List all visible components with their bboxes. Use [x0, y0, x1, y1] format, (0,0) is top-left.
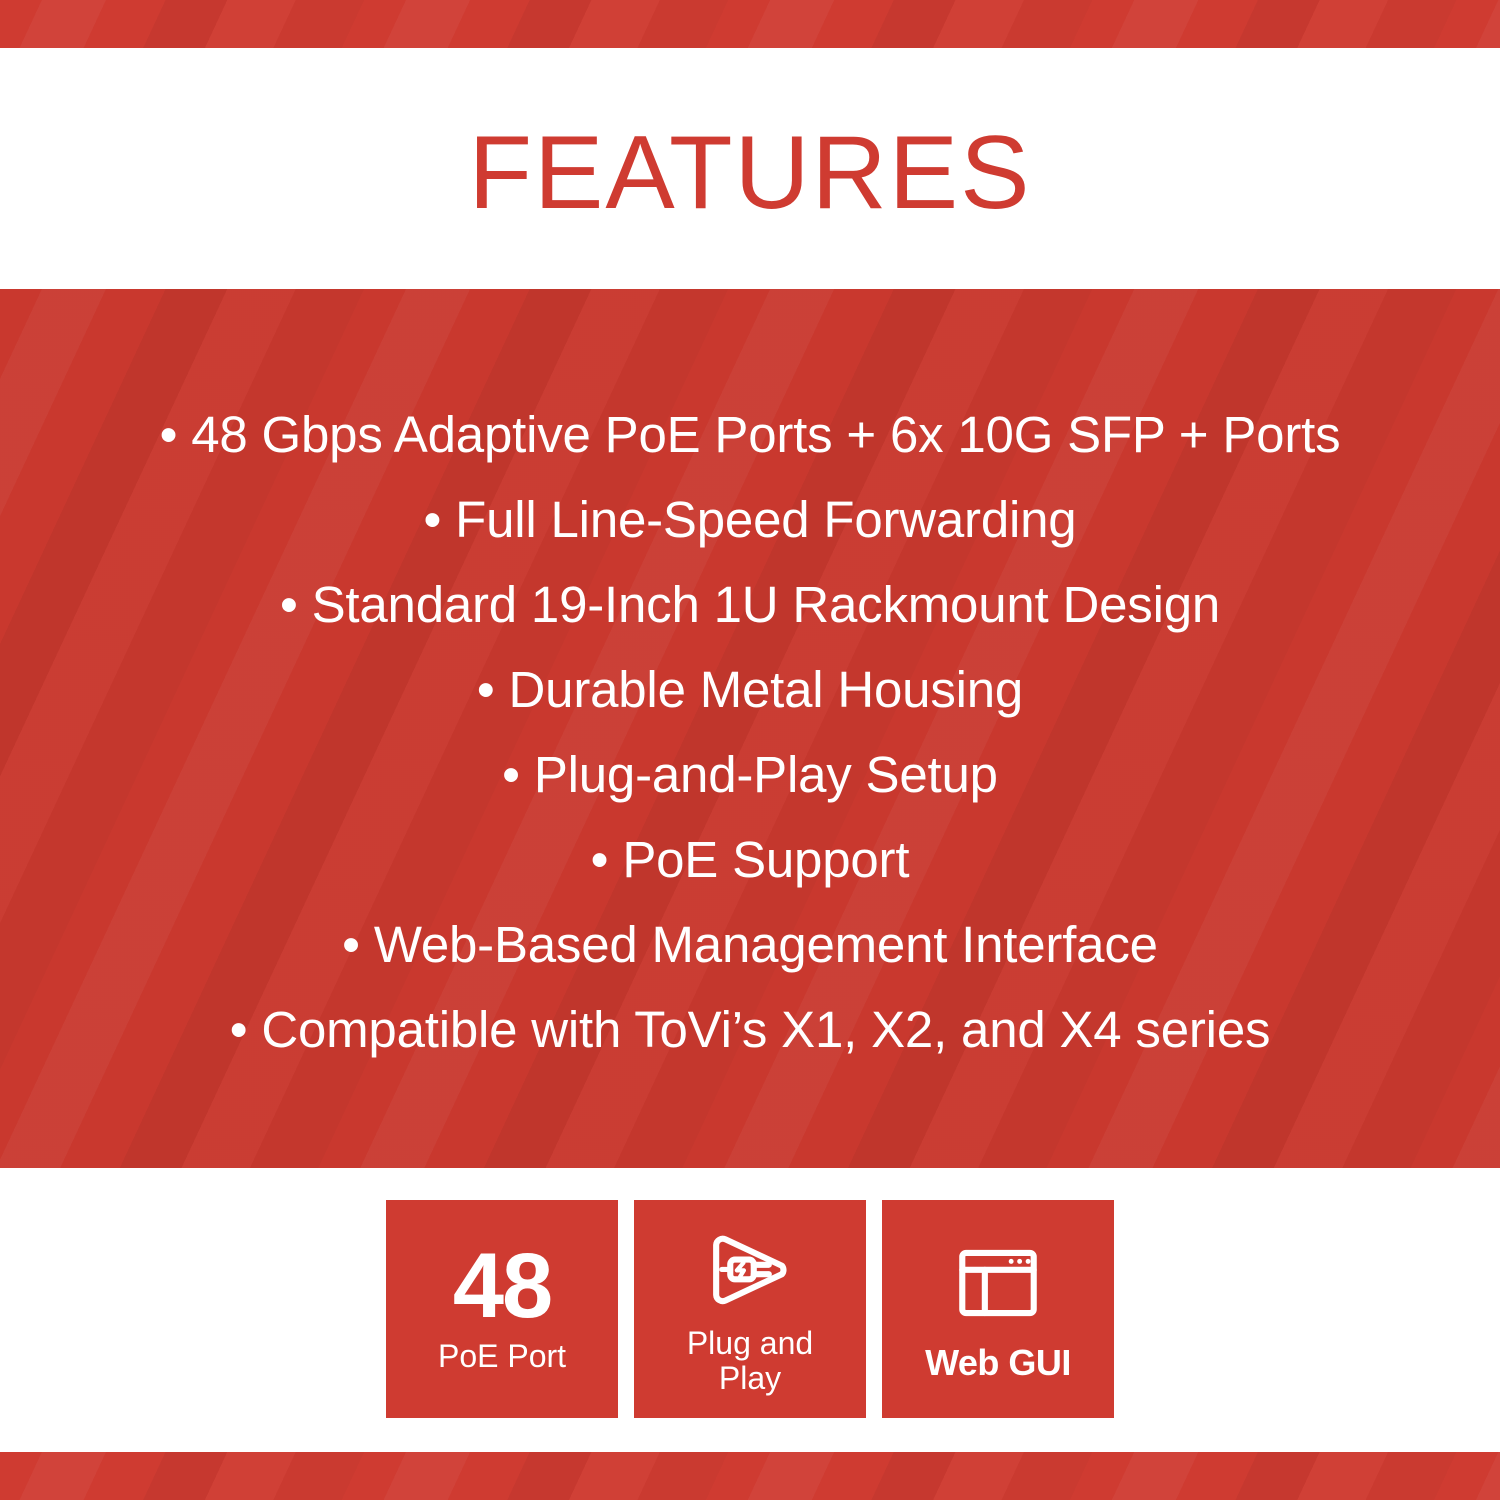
feature-item: • Web-Based Management Interface — [342, 902, 1158, 987]
feature-item: • PoE Support — [591, 817, 910, 902]
feature-list: • 48 Gbps Adaptive PoE Ports + 6x 10G SF… — [0, 289, 1500, 1168]
top-bar-stripe-texture — [0, 0, 1500, 48]
bullet-icon: • — [280, 576, 298, 633]
feature-item: • Plug-and-Play Setup — [502, 732, 998, 817]
bullet-icon: • — [424, 491, 442, 548]
feature-item: • Full Line-Speed Forwarding — [424, 477, 1077, 562]
feature-item-label: Web-Based Management Interface — [374, 916, 1158, 973]
browser-window-icon — [951, 1236, 1045, 1330]
bullet-icon: • — [502, 746, 520, 803]
feature-item: • Compatible with ToVi’s X1, X2, and X4 … — [230, 987, 1271, 1072]
feature-item-label: 48 Gbps Adaptive PoE Ports + 6x 10G SFP … — [191, 406, 1340, 463]
feature-item-label: PoE Support — [622, 831, 909, 888]
feature-item: • 48 Gbps Adaptive PoE Ports + 6x 10G SF… — [160, 392, 1341, 477]
feature-item-label: Full Line-Speed Forwarding — [455, 491, 1076, 548]
badge-plug-and-play: Plug and Play — [634, 1200, 866, 1418]
bullet-icon: • — [160, 406, 178, 463]
number-48-icon: 48 — [453, 1244, 551, 1329]
bottom-bar-stripe-texture — [0, 1452, 1500, 1500]
feature-item-label: Plug-and-Play Setup — [534, 746, 998, 803]
feature-item: • Durable Metal Housing — [477, 647, 1023, 732]
title-band: FEATURES — [0, 48, 1500, 289]
page-title: FEATURES — [468, 121, 1031, 225]
badge-caption: PoE Port — [438, 1339, 566, 1374]
plug-play-icon — [703, 1222, 797, 1316]
badge-caption: Plug and Play — [687, 1326, 813, 1395]
features-page: FEATURES • 48 Gbps Adaptive PoE Ports + … — [0, 0, 1500, 1500]
top-accent-bar — [0, 0, 1500, 48]
feature-item: • Standard 19-Inch 1U Rackmount Design — [280, 562, 1220, 647]
badge-row: 48 PoE Port Plug an — [0, 1200, 1500, 1418]
bullet-icon: • — [342, 916, 360, 973]
badge-poe-port: 48 PoE Port — [386, 1200, 618, 1418]
bullet-icon: • — [230, 1001, 248, 1058]
badge-web-gui: Web GUI — [882, 1200, 1114, 1418]
feature-item-label: Compatible with ToVi’s X1, X2, and X4 se… — [261, 1001, 1270, 1058]
bullet-icon: • — [591, 831, 609, 888]
feature-item-label: Durable Metal Housing — [509, 661, 1024, 718]
badge-caption: Web GUI — [925, 1344, 1071, 1383]
features-panel: • 48 Gbps Adaptive PoE Ports + 6x 10G SF… — [0, 289, 1500, 1168]
bullet-icon: • — [477, 661, 495, 718]
feature-item-label: Standard 19-Inch 1U Rackmount Design — [312, 576, 1220, 633]
bottom-accent-bar — [0, 1452, 1500, 1500]
